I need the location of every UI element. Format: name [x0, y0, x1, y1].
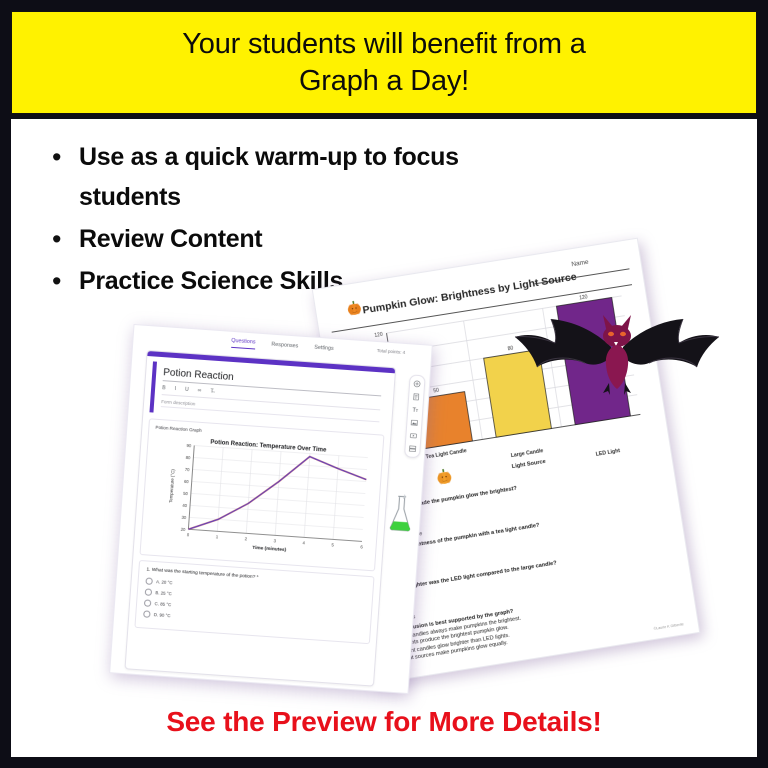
flask-icon [387, 493, 416, 535]
list-item: • Review Content [41, 219, 491, 259]
svg-text:LED Light: LED Light [595, 448, 620, 458]
svg-text:70: 70 [185, 467, 191, 472]
footer-callout: See the Preview for More Details! [11, 706, 757, 738]
svg-text:120: 120 [579, 294, 588, 301]
bat-icon [511, 305, 723, 397]
headline-banner: Your students will benefit from a Graph … [11, 11, 757, 114]
bold-icon[interactable]: B [162, 385, 166, 391]
svg-text:2: 2 [245, 536, 248, 541]
bullet-marker-icon: • [41, 261, 79, 301]
tab-responses[interactable]: Responses [271, 341, 299, 352]
svg-text:50: 50 [433, 388, 440, 395]
svg-text:4: 4 [302, 540, 305, 545]
link-icon[interactable]: ∞ [198, 388, 202, 394]
add-title-icon[interactable] [411, 406, 420, 415]
tab-settings[interactable]: Settings [314, 344, 334, 354]
radio-icon[interactable] [144, 599, 151, 606]
bullet-text: Use as a quick warm-up to focus students [79, 137, 491, 217]
bullet-text: Review Content [79, 219, 262, 259]
line-chart-ylabel: Temperature (°C) [168, 469, 175, 504]
choice-label: D. 90 °C [154, 612, 171, 618]
add-video-icon[interactable] [409, 431, 418, 440]
radio-icon[interactable] [145, 577, 152, 584]
choice-label: A. 20 °C [156, 579, 173, 585]
pumpkin-icon [345, 299, 363, 317]
radio-icon[interactable] [143, 610, 150, 617]
svg-text:6: 6 [360, 544, 363, 549]
mc-question-card: 1. What was the starting temperature of … [134, 560, 374, 644]
form-side-toolbar [404, 374, 426, 458]
headline-line-1: Your students will benefit from a [182, 26, 585, 63]
form-sheet: Potion Reaction B I U ∞ T̶ Form descript… [124, 350, 396, 687]
tab-questions[interactable]: Questions [231, 338, 256, 350]
svg-text:0: 0 [187, 532, 190, 537]
bullet-text: Practice Science Skills [79, 261, 343, 301]
svg-text:3: 3 [273, 538, 276, 543]
svg-text:Tea Light Candle: Tea Light Candle [425, 448, 467, 460]
svg-text:80: 80 [186, 455, 192, 460]
italic-icon[interactable]: I [174, 386, 176, 392]
import-questions-icon[interactable] [412, 393, 421, 402]
clear-format-icon[interactable]: T̶ [210, 388, 214, 394]
choice-label: C. 85 °C [154, 601, 171, 607]
svg-text:40: 40 [182, 503, 188, 508]
add-question-icon[interactable] [413, 380, 422, 389]
poster-body: • Use as a quick warm-up to focus studen… [11, 119, 757, 757]
pumpkin-icon [434, 467, 453, 486]
svg-text:120: 120 [374, 332, 383, 339]
svg-text:60: 60 [184, 479, 190, 484]
svg-text:1: 1 [216, 534, 219, 539]
choice-label: B. 25 °C [155, 590, 172, 596]
underline-icon[interactable]: U [185, 387, 189, 393]
radio-icon[interactable] [145, 588, 152, 595]
list-item: • Use as a quick warm-up to focus studen… [41, 137, 491, 217]
add-section-icon[interactable] [408, 444, 417, 453]
bullet-marker-icon: • [41, 137, 79, 177]
bar-chart-xlabel: Light Source [511, 459, 546, 470]
headline-line-2: Graph a Day! [299, 63, 469, 100]
svg-text:5: 5 [331, 542, 334, 547]
svg-text:30: 30 [181, 515, 187, 520]
add-image-icon[interactable] [410, 419, 419, 428]
potion-reaction-line-chart: Potion Reaction: Temperature Over Time 2… [147, 433, 382, 561]
svg-text:20: 20 [181, 527, 187, 532]
bullet-marker-icon: • [41, 219, 79, 259]
line-chart-xlabel: Time (minutes) [252, 545, 287, 553]
poster-root: Your students will benefit from a Graph … [0, 0, 768, 768]
line-chart-title: Potion Reaction: Temperature Over Time [210, 440, 327, 454]
google-form-screenshot: Questions Responses Settings Total point… [109, 324, 433, 694]
svg-text:90: 90 [186, 443, 192, 448]
form-header-card: Potion Reaction B I U ∞ T̶ Form descript… [149, 361, 388, 428]
svg-text:50: 50 [183, 491, 189, 496]
total-points-label: Total points: 4 [377, 348, 406, 355]
svg-text:Large Candle: Large Candle [510, 448, 544, 459]
graph-question-card: Potion Reaction Graph [139, 418, 384, 571]
